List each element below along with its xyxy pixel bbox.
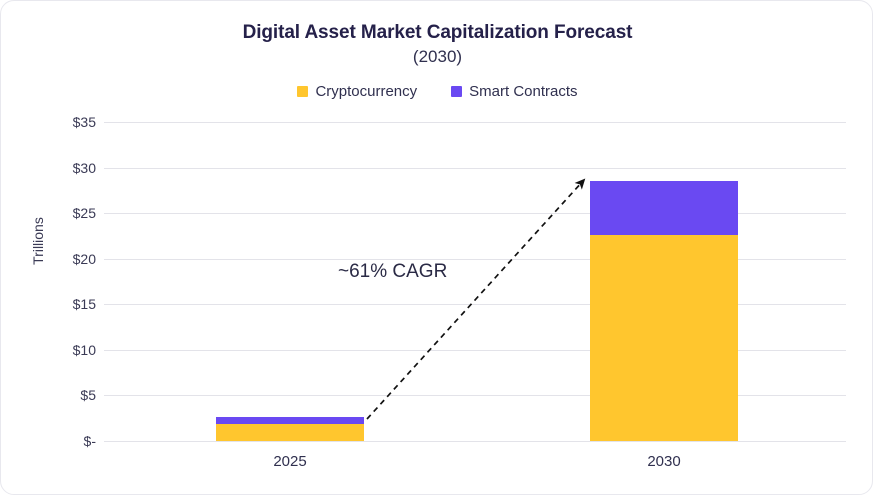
chart-title: Digital Asset Market Capitalization Fore… [1,21,873,45]
legend-label: Smart Contracts [469,83,577,100]
bar-segment-smart-contracts[interactable] [216,417,364,423]
chart-legend: Cryptocurrency Smart Contracts [1,83,873,100]
square-swatch-icon [297,86,308,97]
gridline [104,441,846,442]
legend-label: Cryptocurrency [315,83,417,100]
y-axis-tick-label: $15 [73,296,96,312]
square-swatch-icon [451,86,462,97]
bar-segment-smart-contracts[interactable] [590,181,738,235]
y-axis-tick-labels: $-$5$10$15$20$25$30$35 [1,122,96,441]
y-axis-tick-label: $- [84,433,96,449]
bar-segment-cryptocurrency[interactable] [216,424,364,441]
legend-item-cryptocurrency[interactable]: Cryptocurrency [297,83,417,100]
bar-segment-cryptocurrency[interactable] [590,235,738,441]
legend-item-smart-contracts[interactable]: Smart Contracts [451,83,577,100]
title-block: Digital Asset Market Capitalization Fore… [1,21,873,68]
gridline [104,168,846,169]
y-axis-tick-label: $35 [73,114,96,130]
x-axis-tick-label: 2025 [230,453,350,470]
cagr-annotation-label: ~61% CAGR [338,261,447,283]
bar-2030[interactable] [590,181,738,441]
x-axis-tick-label: 2030 [604,453,724,470]
plot-area [104,122,846,441]
y-axis-tick-label: $30 [73,160,96,176]
y-axis-tick-label: $10 [73,342,96,358]
y-axis-tick-label: $20 [73,251,96,267]
chart-card: Digital Asset Market Capitalization Fore… [0,0,873,495]
bar-2025[interactable] [216,417,364,441]
y-axis-tick-label: $25 [73,205,96,221]
chart-subtitle: (2030) [1,46,873,68]
gridline [104,122,846,123]
y-axis-tick-label: $5 [80,387,96,403]
